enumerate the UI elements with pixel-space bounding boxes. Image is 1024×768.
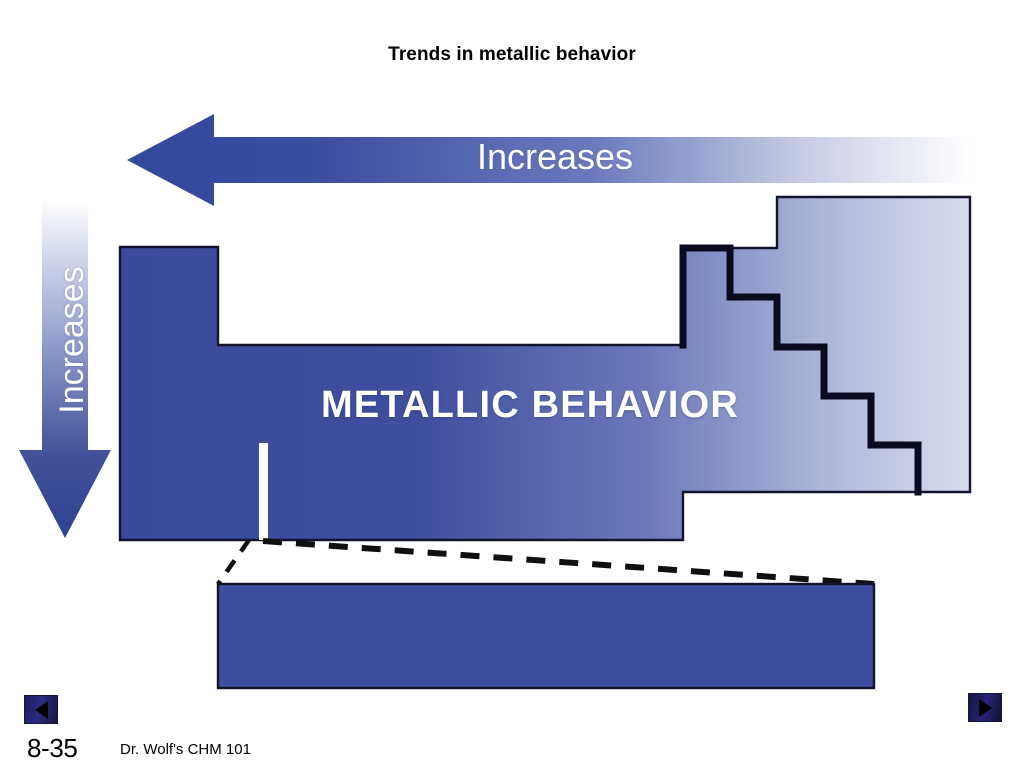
next-slide-button[interactable] (968, 693, 1002, 722)
fblock-connector-lines (218, 540, 874, 584)
lanthanide-notch (259, 443, 268, 540)
page-number: 8-35 (27, 733, 77, 764)
periodic-table-body (120, 197, 970, 540)
metallic-behavior-caption: METALLIC BEHAVIOR (200, 384, 860, 427)
vertical-arrow-label: Increases (50, 225, 94, 455)
triangle-right-icon (979, 699, 992, 717)
course-credit: Dr. Wolf's CHM 101 (120, 741, 251, 758)
fblock-rectangle (218, 584, 874, 688)
horizontal-arrow-label: Increases (430, 134, 680, 180)
previous-slide-button[interactable] (24, 695, 58, 724)
triangle-left-icon (35, 701, 48, 719)
slide-canvas: Trends in metallic behavior (0, 0, 1024, 768)
